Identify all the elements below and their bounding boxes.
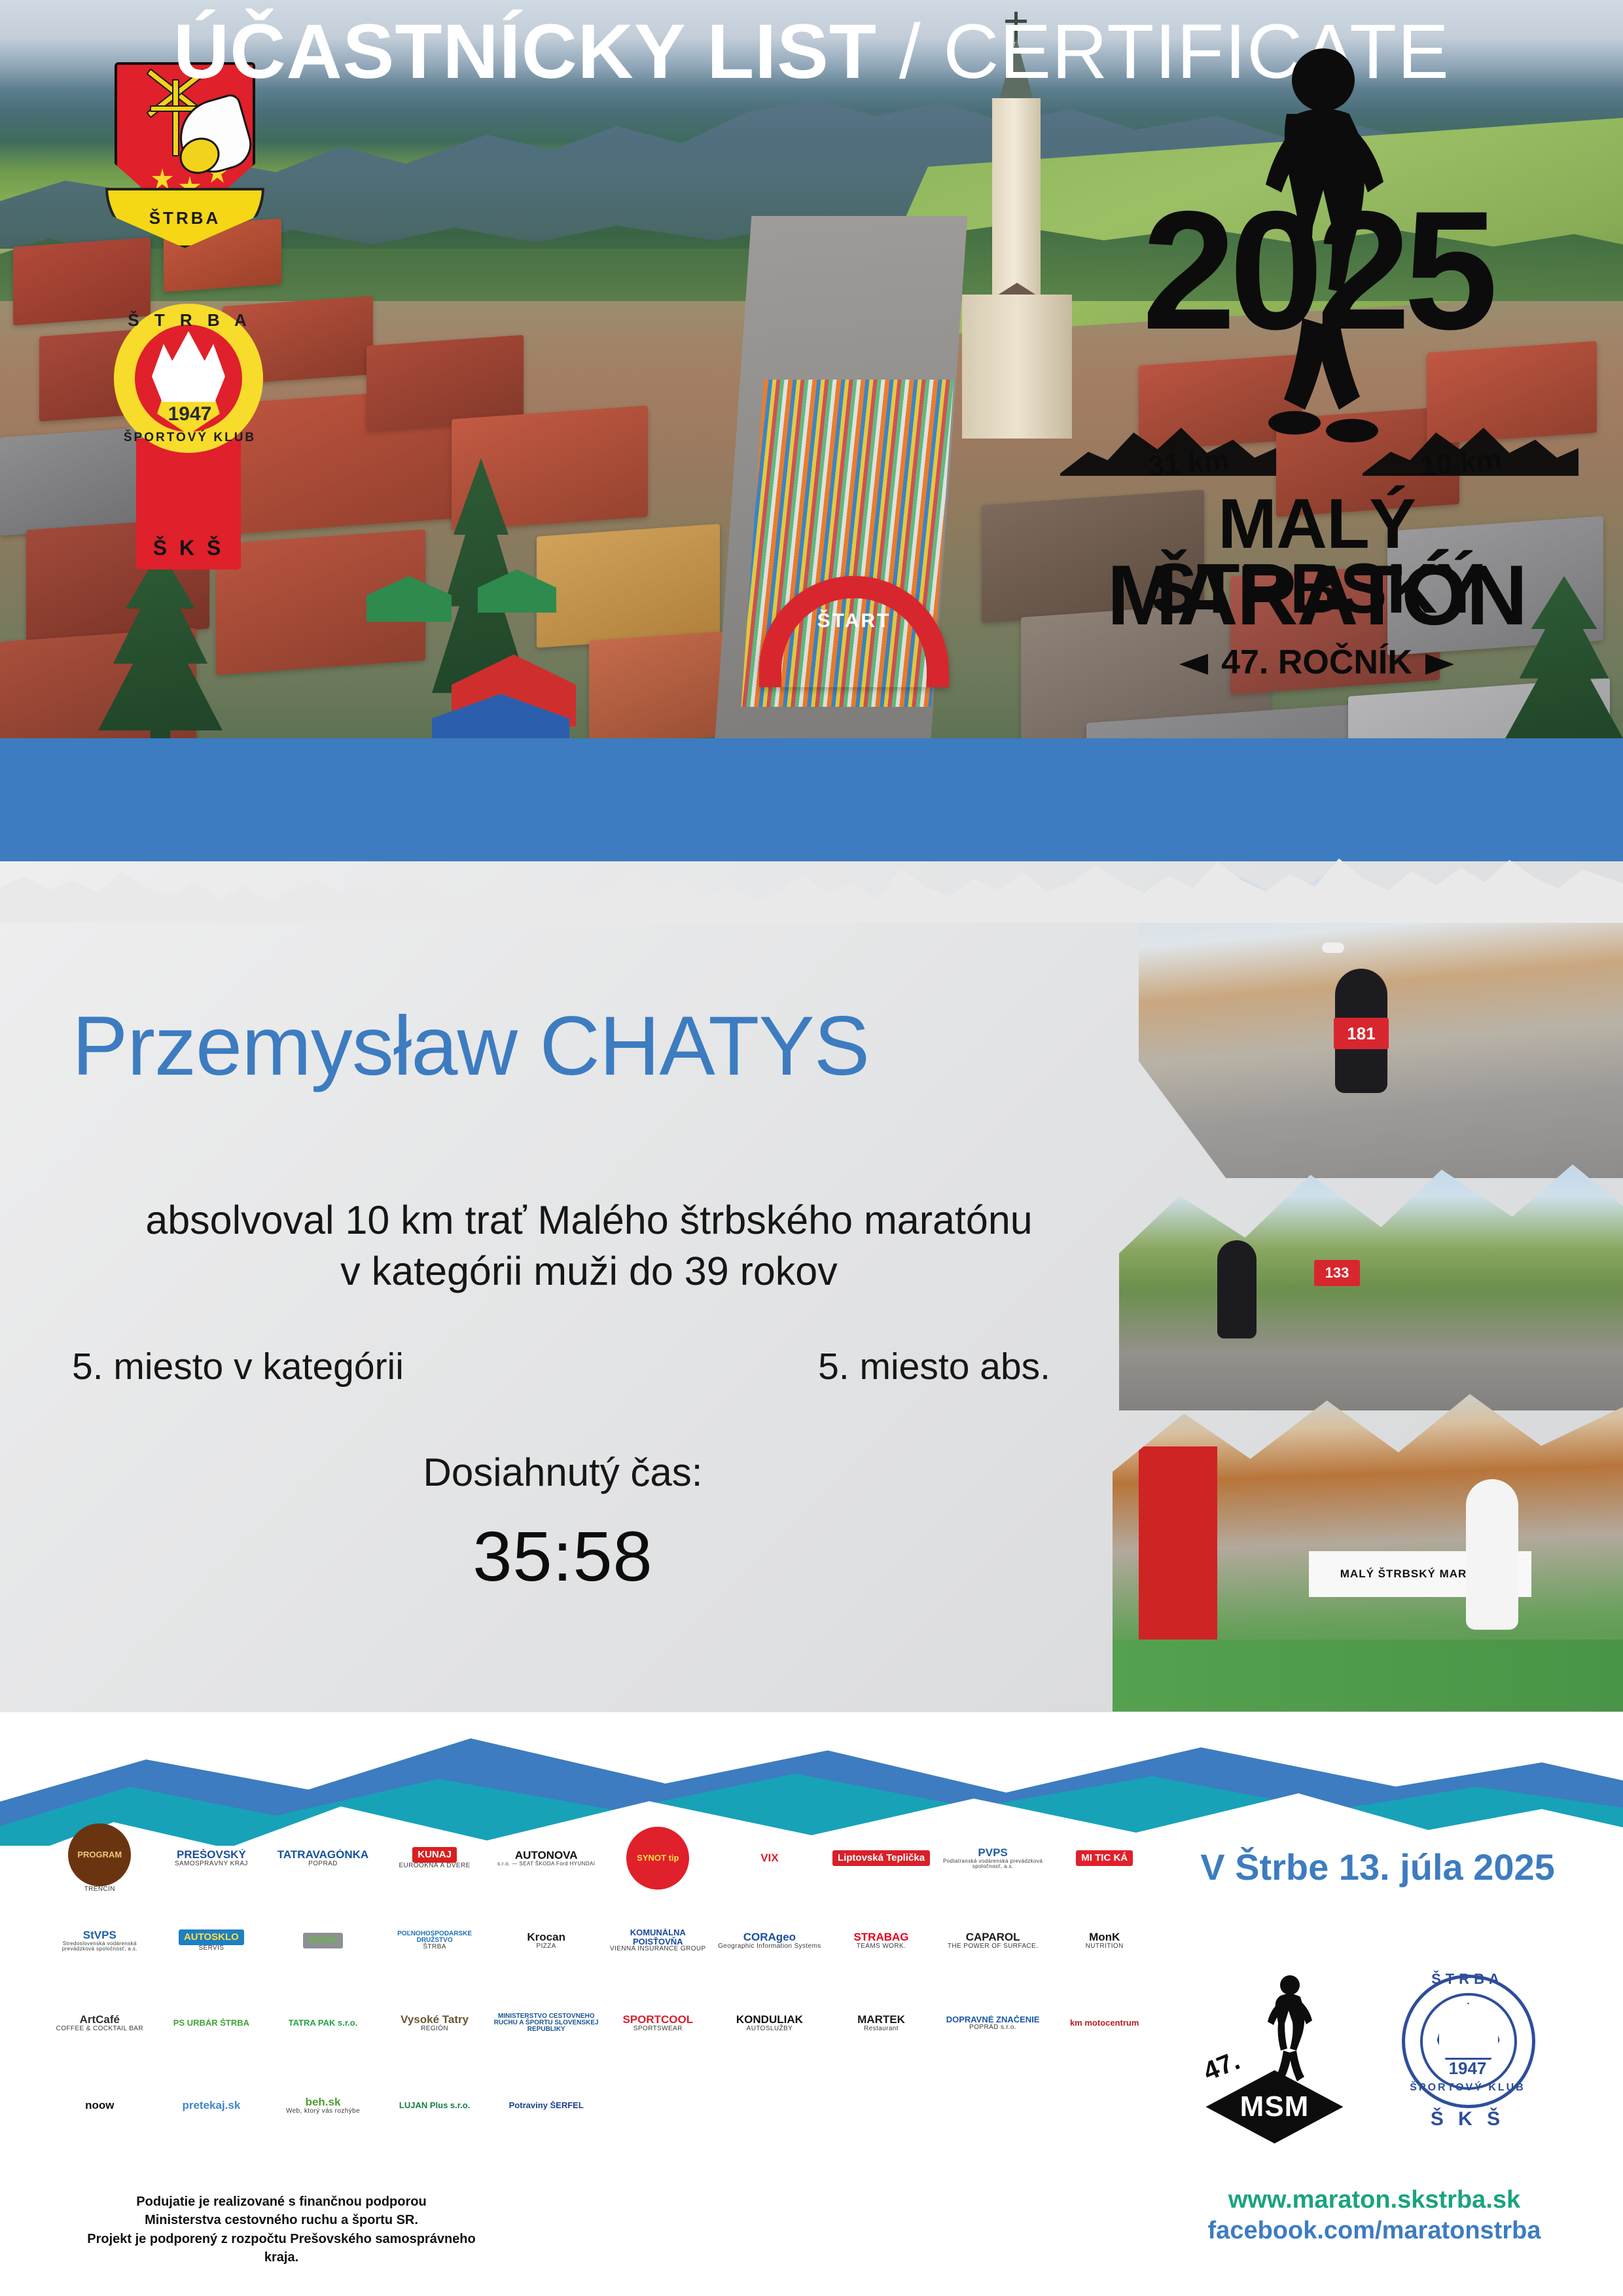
sponsor-name: StVPS xyxy=(83,1929,116,1941)
website-link[interactable]: www.maraton.skstrba.sk xyxy=(1178,2186,1571,2214)
sponsor-tagline: SERVIS xyxy=(198,1945,224,1952)
footer-emblems: 47. MSM ŠTRBA 1947 ŠPORTOVÝ KLUB Š K Š xyxy=(1178,1944,1564,2160)
sponsor-name: pretekaj.sk xyxy=(182,2100,240,2111)
sponsor-name: PS URBÁR ŠTRBA xyxy=(173,2018,249,2027)
sponsor-logo: SYNOT tip xyxy=(626,1827,689,1890)
sponsor-logo: VIX xyxy=(760,1852,778,1864)
sponsor-tagline: EUROOKNÁ A DVERE xyxy=(399,1863,470,1869)
msm-abbr: MSM xyxy=(1240,2090,1310,2123)
sponsor-logo: MonKNUTRITION xyxy=(1086,1931,1124,1950)
sponsor-name: PROGRAM xyxy=(68,1823,131,1886)
sponsor-name: Liptovská Teplička xyxy=(832,1850,930,1865)
sponsor-name: STRABAG xyxy=(853,1931,908,1943)
hero-photo: ŠTART ŠTRBA Š K Š xyxy=(0,0,1623,743)
msm-logo: 47. MSM xyxy=(1193,1954,1357,2150)
sponsor-name: MI TIC KÁ xyxy=(1076,1850,1133,1865)
sponsor-tagline: COFFEE & COCKTAIL BAR xyxy=(56,2026,143,2032)
photo-bib-number: 133 xyxy=(1314,1260,1360,1286)
sks-club-crest: Š K Š Š T R B A 1947 ŠPORTOVÝ KLUB xyxy=(105,275,275,569)
placement-row: 5. miesto v kategórii 5. miesto abs. xyxy=(72,1345,1113,1388)
sponsor-logo: MINISTERSTVO CESTOVNÉHO RUCHU A ŠPORTU S… xyxy=(492,2013,600,2034)
sks-banner: Š K Š xyxy=(136,439,241,569)
sponsor-name: MINISTERSTVO CESTOVNÉHO RUCHU A ŠPORTU S… xyxy=(492,2013,600,2034)
sponsor-tagline: POPRAD xyxy=(308,1861,338,1867)
sponsor-logo: MARTEKRestaurant xyxy=(857,2014,905,2032)
sponsor-name: MARTEK xyxy=(857,2014,905,2026)
sponsor-logo: LUJAN Plus s.r.o. xyxy=(399,2101,470,2109)
sponsor-name: Potraviny ŠERFEL xyxy=(509,2101,584,2109)
sponsor-name: MonK xyxy=(1089,1931,1120,1943)
finish-time-label: Dosiahnutý čas: xyxy=(59,1450,1067,1495)
distance-row: 31 km 10 km xyxy=(1048,416,1585,501)
description-line-2: v kategórii muži do 39 rokov xyxy=(59,1246,1119,1297)
sponsor-tagline: Web, ktorý vás rozhýbe xyxy=(286,2108,360,2115)
sponsor-logo: Potraviny ŠERFEL xyxy=(509,2101,584,2109)
distance-short-label: 10 km xyxy=(1419,444,1503,484)
sponsor-logo: beh.skWeb, ktorý vás rozhýbe xyxy=(286,2096,360,2115)
sks-crest-year: 1947 xyxy=(105,403,275,425)
sponsor-tagline: Restaurant xyxy=(864,2026,899,2032)
sponsor-logo: PROGRAMTRENČÍN xyxy=(68,1823,131,1893)
sponsor-logo: noow xyxy=(85,2100,114,2111)
sponsor-tagline: Stredoslovenská vodárenská prevádzková s… xyxy=(46,1941,154,1952)
sponsor-name: POĽNOHOSPODÁRSKE DRUŽSTVO xyxy=(381,1931,489,1945)
sponsor-name: TATRA PAK s.r.o. xyxy=(289,2018,358,2027)
contact-links: www.maraton.skstrba.sk facebook.com/mara… xyxy=(1178,2186,1571,2245)
photo-runners-group: 133 xyxy=(1119,1149,1623,1410)
arrow-left-icon xyxy=(1179,654,1208,675)
sponsor-tagline: ŠTRBA xyxy=(423,1944,446,1950)
sponsor-tagline: POPRAD s.r.o. xyxy=(969,2024,1016,2031)
banner-title-sk: ÚČASTNÍCKY LIST xyxy=(173,9,877,95)
place-absolute: 5. miesto abs. xyxy=(818,1345,1113,1388)
sponsor-tagline: SPORTSWEAR xyxy=(633,2026,683,2032)
sks-banner-label: Š K Š xyxy=(153,536,224,560)
funding-note-line-1: Podujatie je realizované s finančnou pod… xyxy=(72,2193,491,2211)
sponsor-logo: KrocanPIZZA xyxy=(527,1931,565,1950)
sponsor-name: DOPRAVNÉ ZNAČENIE xyxy=(946,2015,1040,2024)
sponsor-logo: CORAgeoGeographic Information Systems xyxy=(718,1931,821,1950)
sponsor-name: PVPS xyxy=(978,1847,1007,1859)
arrow-right-icon xyxy=(1425,654,1454,675)
event-edition-row: 47. ROČNÍK xyxy=(1048,643,1585,682)
certificate-description: absolvoval 10 km trať Malého štrbského m… xyxy=(59,1194,1119,1297)
sponsor-logo-grid: PROGRAMTRENČÍNPREŠOVSKÝSAMOSPRÁVNY KRAJT… xyxy=(46,1820,1158,2206)
msm-edition-number: 47. xyxy=(1199,2046,1243,2087)
sponsor-tagline: REGIÓN xyxy=(421,2026,448,2032)
msm-diamond: MSM xyxy=(1206,2070,1344,2144)
sponsor-name: KONDULIAK xyxy=(736,2014,803,2026)
sponsor-logo: TATRAVAGÓNKAPOPRAD xyxy=(277,1849,368,1867)
sponsor-tagline: Podtatranská vodárenská prevádzková spol… xyxy=(939,1859,1047,1869)
finish-time-value: 35:58 xyxy=(59,1515,1067,1597)
participant-name: Przemysław CHATYS xyxy=(72,998,1093,1094)
sponsor-name: km motocentrum xyxy=(1070,2018,1139,2027)
sponsor-logo: pretekaj.sk xyxy=(182,2100,240,2111)
facebook-link[interactable]: facebook.com/maratonstrba xyxy=(1178,2217,1571,2245)
sponsor-name: AUTOSKLO xyxy=(179,1929,244,1945)
description-line-1: absolvoval 10 km trať Malého štrbského m… xyxy=(59,1194,1119,1246)
sponsor-logo: DOPRAVNÉ ZNAČENIEPOPRAD s.r.o. xyxy=(946,2015,1040,2031)
sponsor-name: ArtCafé xyxy=(80,2014,120,2026)
funding-note: Podujatie je realizované s finančnou pod… xyxy=(72,2193,491,2267)
sponsor-name: beh.sk xyxy=(306,2096,341,2108)
sponsor-name: PREŠOVSKÝ xyxy=(177,1849,246,1861)
sponsor-logo: Liptovská Teplička xyxy=(832,1850,930,1865)
banner-title-separator: / xyxy=(877,9,943,95)
sponsor-tagline: PIZZA xyxy=(537,1943,556,1950)
photo-bib-number: 181 xyxy=(1334,1018,1389,1049)
sponsor-name: CAPAROL xyxy=(966,1931,1020,1943)
sponsor-logo: CAPAROLTHE POWER OF SURFACE. xyxy=(948,1931,1038,1950)
event-edition-label: 47. ROČNÍK xyxy=(1221,643,1412,681)
sponsor-name: noow xyxy=(85,2100,114,2111)
sponsor-logo: Vysoké TatryREGIÓN xyxy=(401,2014,469,2032)
sponsor-logo: PS URBÁR ŠTRBA xyxy=(173,2018,249,2027)
sponsor-logo: MI TIC KÁ xyxy=(1076,1850,1133,1865)
sponsor-logo: KONDULIAKAUTOSLUŽBY xyxy=(736,2014,803,2032)
sponsor-name: KOMUNÁLNA POISŤOVŇA xyxy=(604,1928,712,1946)
sponsor-tagline: TEAMS WORK. xyxy=(857,1943,906,1950)
sponsor-tagline: s.r.o. — SEAT ŠKODA Ford HYUNDAI xyxy=(497,1861,595,1867)
sponsor-name: KUNAJ xyxy=(412,1847,457,1862)
sponsor-name: SYNOT tip xyxy=(626,1827,689,1890)
sponsor-logo: POĽNOHOSPODÁRSKE DRUŽSTVOŠTRBA xyxy=(381,1931,489,1951)
sponsor-name: SPORTCOOL xyxy=(622,2014,693,2026)
sponsor-tagline: NUTRITION xyxy=(1086,1943,1124,1950)
sponsor-logo: km motocentrum xyxy=(1070,2018,1139,2027)
sponsor-name: HOÓK xyxy=(303,1933,343,1948)
sponsor-logo: PVPSPodtatranská vodárenská prevádzková … xyxy=(939,1847,1047,1869)
sponsor-name: CORAgeo xyxy=(743,1931,796,1943)
sponsor-logo: TATRA PAK s.r.o. xyxy=(289,2018,358,2027)
sponsor-tagline: Geographic Information Systems xyxy=(718,1943,821,1950)
funding-note-line-3: Projekt je podporený z rozpočtu Prešovsk… xyxy=(72,2230,491,2267)
sponsor-logo: HOÓK xyxy=(303,1933,343,1948)
sponsor-tagline: THE POWER OF SURFACE. xyxy=(948,1943,1038,1950)
sponsor-logo: KUNAJEUROOKNÁ A DVERE xyxy=(399,1847,470,1869)
start-arch: ŠTART xyxy=(759,576,949,687)
sponsor-name: AUTONOVA xyxy=(515,1850,578,1861)
stamp-year: 1947 xyxy=(1386,2058,1550,2079)
stamp-mid-label: ŠPORTOVÝ KLUB xyxy=(1386,2082,1550,2094)
sponsor-tagline: TRENČÍN xyxy=(84,1886,115,1893)
sks-club-stamp: ŠTRBA 1947 ŠPORTOVÝ KLUB Š K Š xyxy=(1386,1954,1550,2150)
msm-runner-icon xyxy=(1249,1973,1321,2091)
sponsor-tagline: SAMOSPRÁVNY KRAJ xyxy=(175,1861,248,1867)
event-title-line2: MARATÓN xyxy=(1048,556,1585,635)
event-date-line: V Štrbe 13. júla 2025 xyxy=(1181,1846,1574,1888)
sponsor-name: Krocan xyxy=(527,1931,565,1943)
sponsor-name: VIX xyxy=(760,1852,778,1864)
place-in-category: 5. miesto v kategórii xyxy=(72,1345,404,1388)
certificate-page: ŠTART ŠTRBA Š K Š xyxy=(0,0,1623,2296)
sponsor-logo: ArtCaféCOFFEE & COCKTAIL BAR xyxy=(56,2014,143,2032)
stamp-top-label: ŠTRBA xyxy=(1386,1971,1550,1988)
stamp-bottom-label: Š K Š xyxy=(1386,2108,1550,2130)
sponsor-logo: KOMUNÁLNA POISŤOVŇAVIENNA INSURANCE GROU… xyxy=(604,1928,712,1952)
sponsor-tagline: VIENNA INSURANCE GROUP xyxy=(610,1946,706,1952)
sponsor-logo: StVPSStredoslovenská vodárenská prevádzk… xyxy=(46,1929,154,1952)
crest-ribbon-label: ŠTRBA xyxy=(149,208,221,245)
sponsor-logo: AUTONOVAs.r.o. — SEAT ŠKODA Ford HYUNDAI xyxy=(497,1850,595,1867)
event-title-block: 2025 31 km 10 km MALÝ ŠTRB xyxy=(1048,39,1585,615)
start-arch-label: ŠTART xyxy=(817,610,891,632)
photo-male-finisher: MALÝ ŠTRBSKÝ MARATÓN xyxy=(1113,1388,1623,1712)
sponsor-name: LUJAN Plus s.r.o. xyxy=(399,2101,470,2109)
crest-ribbon: ŠTRBA xyxy=(105,188,264,248)
sponsor-logo: STRABAGTEAMS WORK. xyxy=(853,1931,908,1950)
sks-crest-top-label: Š T R B A xyxy=(105,310,275,331)
sponsor-logo: AUTOSKLOSERVIS xyxy=(179,1929,244,1952)
sponsor-logo: PREŠOVSKÝSAMOSPRÁVNY KRAJ xyxy=(175,1849,248,1867)
certificate-banner xyxy=(0,738,1623,861)
sponsor-name: Vysoké Tatry xyxy=(401,2014,469,2026)
sponsor-logo: SPORTCOOLSPORTSWEAR xyxy=(622,2014,693,2032)
sponsor-tagline: AUTOSLUŽBY xyxy=(747,2026,793,2032)
sks-crest-bottom-label: ŠPORTOVÝ KLUB xyxy=(105,431,275,445)
distance-long-label: 31 km xyxy=(1147,444,1231,484)
photo-collage: 181 133 MALÝ ŠTRBSKÝ MARATÓN xyxy=(1099,870,1623,1712)
sponsor-name: TATRAVAGÓNKA xyxy=(277,1849,368,1861)
funding-note-line-2: Ministerstva cestovného ruchu a športu S… xyxy=(72,2211,491,2229)
